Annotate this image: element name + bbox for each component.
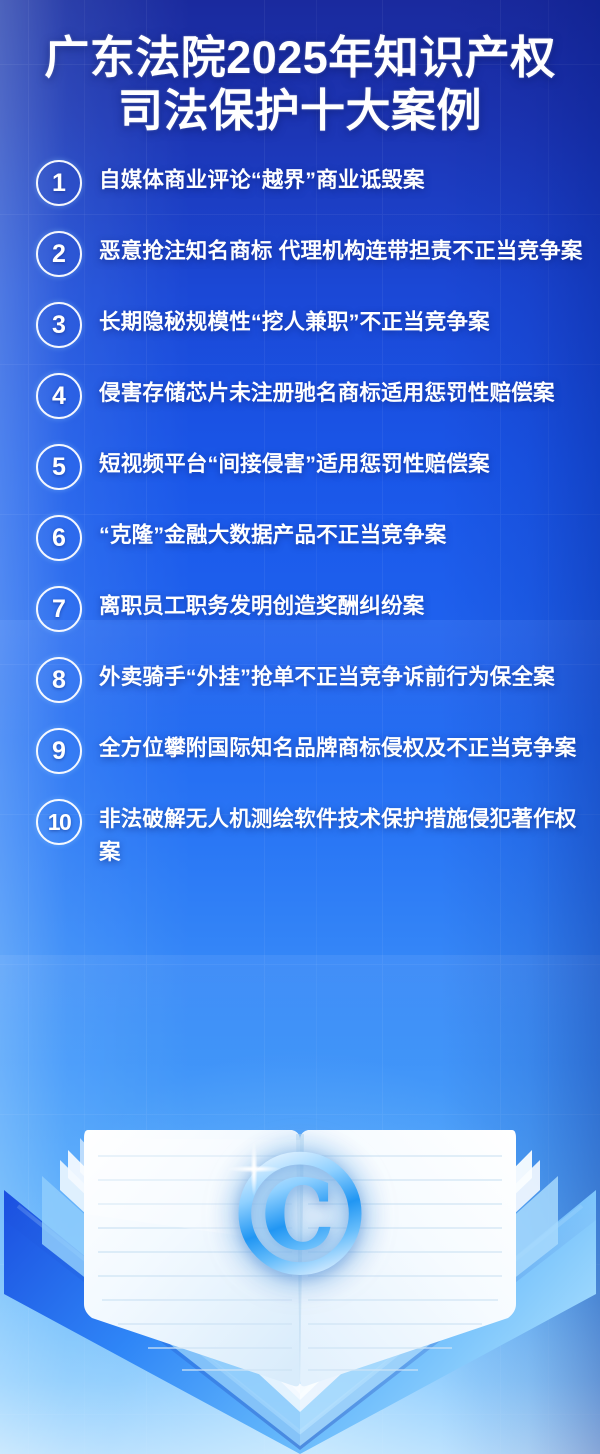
case-title: “克隆”金融大数据产品不正当竞争案 xyxy=(99,514,584,552)
case-number-badge: 1 xyxy=(36,160,82,206)
book-cover-outer xyxy=(4,1190,596,1454)
case-title: 短视频平台“间接侵害”适用惩罚性赔偿案 xyxy=(99,443,584,481)
case-number-badge: 6 xyxy=(36,515,82,561)
title-line-2: 司法保护十大案例 xyxy=(0,84,600,137)
case-title: 离职员工职务发明创造奖酬纠纷案 xyxy=(99,585,584,623)
case-number-badge: 8 xyxy=(36,657,82,703)
book-cover-edge-highlight xyxy=(18,1206,582,1432)
page-stack-right-2 xyxy=(300,1150,532,1400)
list-item[interactable]: 7 离职员工职务发明创造奖酬纠纷案 xyxy=(0,585,584,632)
title-line-1: 广东法院2025年知识产权 xyxy=(0,31,600,84)
page-stack-left-1 xyxy=(60,1160,300,1412)
page-stack-right-1 xyxy=(300,1160,540,1412)
case-number-badge: 3 xyxy=(36,302,82,348)
case-title: 全方位攀附国际知名品牌商标侵权及不正当竞争案 xyxy=(99,727,584,765)
book-page-right xyxy=(300,1130,516,1386)
background-light-band-2 xyxy=(0,955,600,1065)
list-item[interactable]: 1 自媒体商业评论“越界”商业诋毁案 xyxy=(0,159,584,206)
page-left-edge xyxy=(80,1138,300,1394)
case-title: 恶意抢注知名商标 代理机构连带担责不正当竞争案 xyxy=(99,230,584,268)
case-number-badge: 4 xyxy=(36,373,82,419)
case-title: 长期隐秘规模性“挖人兼职”不正当竞争案 xyxy=(99,301,584,339)
copyright-icon: © xyxy=(215,1141,385,1291)
open-book-illustration xyxy=(0,1094,600,1454)
list-item[interactable]: 6 “克隆”金融大数据产品不正当竞争案 xyxy=(0,514,584,561)
case-title: 自媒体商业评论“越界”商业诋毁案 xyxy=(99,159,584,197)
poster-title: 广东法院2025年知识产权 司法保护十大案例 xyxy=(0,0,600,137)
book-page-left xyxy=(84,1130,300,1386)
copyright-symbol-container: © xyxy=(0,1141,600,1291)
page-stack-left-2 xyxy=(68,1150,300,1400)
case-list: 1 自媒体商业评论“越界”商业诋毁案 2 恶意抢注知名商标 代理机构连带担责不正… xyxy=(0,159,600,869)
case-number-badge: 5 xyxy=(36,444,82,490)
list-item[interactable]: 3 长期隐秘规模性“挖人兼职”不正当竞争案 xyxy=(0,301,584,348)
list-item[interactable]: 2 恶意抢注知名商标 代理机构连带担责不正当竞争案 xyxy=(0,230,584,277)
case-number-badge: 9 xyxy=(36,728,82,774)
list-item[interactable]: 8 外卖骑手“外挂”抢单不正当竞争诉前行为保全案 xyxy=(0,656,584,703)
page-sheen-left xyxy=(84,1138,300,1244)
book-spine-left xyxy=(42,1176,300,1446)
case-title: 侵害存储芯片未注册驰名商标适用惩罚性赔偿案 xyxy=(99,372,584,410)
list-item[interactable]: 5 短视频平台“间接侵害”适用惩罚性赔偿案 xyxy=(0,443,584,490)
list-item[interactable]: 9 全方位攀附国际知名品牌商标侵权及不正当竞争案 xyxy=(0,727,584,774)
sparkle-icon xyxy=(227,1142,281,1196)
background-bottom-glow xyxy=(0,934,600,1454)
page-ruled-lines-left xyxy=(98,1156,292,1370)
list-item[interactable]: 4 侵害存储芯片未注册驰名商标适用惩罚性赔偿案 xyxy=(0,372,584,419)
case-number-badge: 2 xyxy=(36,231,82,277)
book-cover-shade xyxy=(4,1190,596,1450)
case-title: 非法破解无人机测绘软件技术保护措施侵犯著作权案 xyxy=(99,798,584,869)
book-center-fold xyxy=(296,1134,304,1384)
case-number-badge: 7 xyxy=(36,586,82,632)
list-item[interactable]: 10 非法破解无人机测绘软件技术保护措施侵犯著作权案 xyxy=(0,798,584,869)
poster-root: 广东法院2025年知识产权 司法保护十大案例 1 自媒体商业评论“越界”商业诋毁… xyxy=(0,0,600,1454)
case-title: 外卖骑手“外挂”抢单不正当竞争诉前行为保全案 xyxy=(99,656,584,694)
case-number-badge: 10 xyxy=(36,799,82,845)
page-ruled-lines-right xyxy=(308,1156,502,1370)
book-spine-right xyxy=(300,1176,558,1446)
